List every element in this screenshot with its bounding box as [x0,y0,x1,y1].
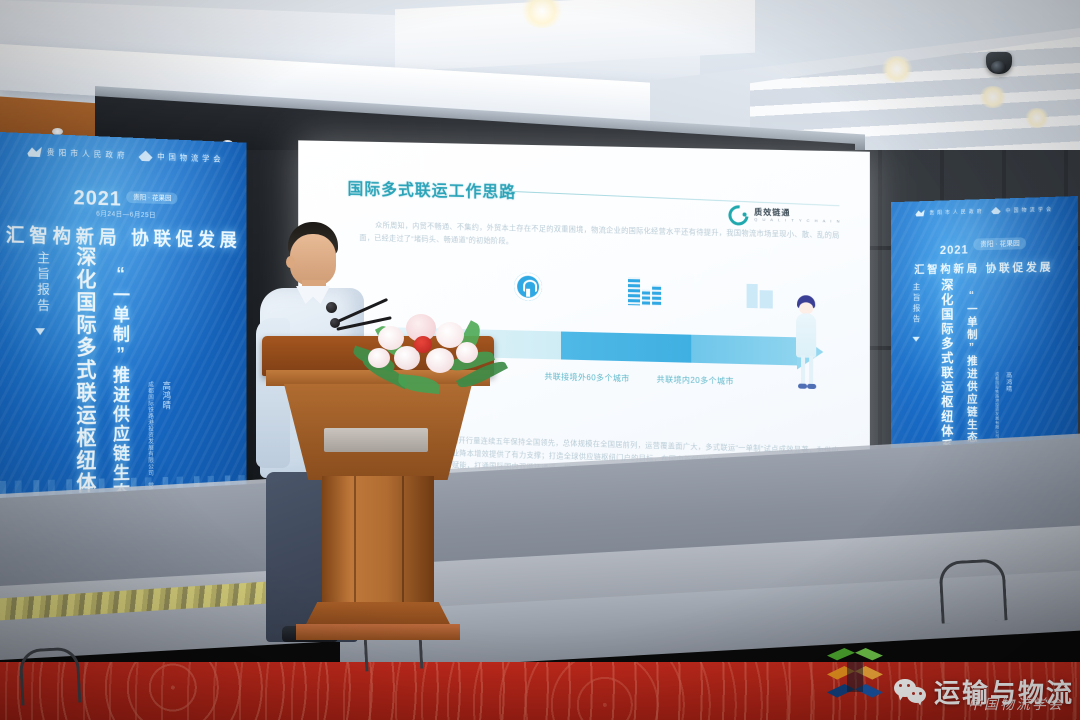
podium-plaque [324,428,428,452]
org-logo-1-icon [915,209,924,217]
building-1 [628,277,640,305]
illustration-leg-left [801,355,805,385]
arrow-segment-3 [691,335,797,366]
leaf [397,374,440,394]
illustration-shoe-left [798,384,807,389]
logistics-cube-logo [823,646,887,708]
building-5 [760,290,773,308]
building-3 [652,285,661,306]
chevron-down-icon [35,328,45,335]
banner-slogan: 汇智构新局 协联促发展 [0,220,246,252]
flower-bloom [456,342,478,363]
microphone-head-icon [330,318,340,328]
brand-tagline: Q U A L I T Y C H A I N [754,218,841,224]
building-2 [642,289,650,305]
flower-bloom-red [414,336,432,353]
podium-column-edge [354,476,356,606]
org-logo-1-label: 贵 阳 市 人 民 政 府 [47,146,126,160]
cube-core [847,662,863,692]
ceiling-downlight-icon [1024,108,1050,128]
banner-speaker-name: 高鸿晴 [1004,372,1013,393]
wechat-icon [894,679,928,705]
flower-arrangement [352,296,512,406]
security-camera-icon [986,52,1012,74]
banner-slogan: 汇智构新局 协联促发展 [891,258,1078,277]
city-buildings-icon [628,275,662,306]
city-buildings-faded-icon [745,278,775,309]
stage-handrail [19,646,82,705]
female-illustration-icon [789,295,823,398]
banner-report-label: 主旨报告 [911,283,921,326]
arrow-label-2: 共联接境外60多个城市 [532,371,642,387]
banner-location-pill: 贵阳 · 花果园 [974,237,1027,250]
org-logo-1-label: 贵 阳 市 人 民 政 府 [929,208,982,216]
arrow-label-3: 共联境内20多个城市 [640,373,751,389]
banner-speaker-name: 高鸿晴 [161,381,173,410]
org-logo-1-icon [27,145,42,158]
podium-base-plinth [296,624,460,640]
conference-photo-scene: 贵 阳 市 人 民 政 府 中 国 物 流 学 会 2021贵阳 · 花果园 6… [0,0,1080,720]
podium-column-edge [402,476,404,606]
banner-year: 2021 [940,243,969,257]
org-logo-2-icon [139,150,153,162]
banner-speaker-org: 成都国际铁路港投资发展有限公司 [994,372,1000,438]
banner-location-pill: 贵阳 · 花果园 [126,191,177,204]
slide-brand-logo: 质效链通 Q U A L I T Y C H A I N [728,205,842,228]
org-logo-2-label: 中 国 物 流 学 会 [1005,205,1052,213]
china-railway-icon [514,272,542,301]
chevron-down-icon [912,337,919,342]
podium-column [322,476,434,606]
banner-year: 2021 [74,186,122,210]
ceiling-downlight-icon [880,56,914,82]
ceiling-downlight-icon [978,86,1008,108]
watermark: 运输与物流 中国物流学会 [823,646,1074,710]
org-logo-2-icon [991,206,1001,214]
c-ring-dot-icon [742,212,746,216]
illustration-body [796,313,816,358]
banner-report-label: 主旨报告 [33,251,51,315]
org-logo-2-label: 中 国 物 流 学 会 [157,151,221,164]
speaker-head [290,234,336,286]
flower-bloom [426,348,454,373]
watermark-text-group: 运输与物流 中国物流学会 [894,673,1074,710]
brand-text: 质效链通 Q U A L I T Y C H A I N [754,209,841,224]
stage-icons-row [492,272,793,313]
stage-handrail [938,558,1007,623]
slide-title: 国际多式联运工作思路 [348,175,517,202]
microphone-head-icon [326,302,337,313]
illustration-shoe-right [807,384,816,389]
watermark-subtitle: 中国物流学会 [968,694,1064,714]
illustration-leg-right [809,356,813,386]
building-4 [747,284,758,308]
c-ring-icon [724,201,752,229]
arrow-segment-2 [561,331,691,362]
banner-year-block: 2021贵阳 · 花果园 [891,236,1078,260]
ceiling-recess [395,0,755,71]
flower-bloom [368,348,390,368]
title-underline [504,191,839,207]
speaker-ear [286,256,295,268]
